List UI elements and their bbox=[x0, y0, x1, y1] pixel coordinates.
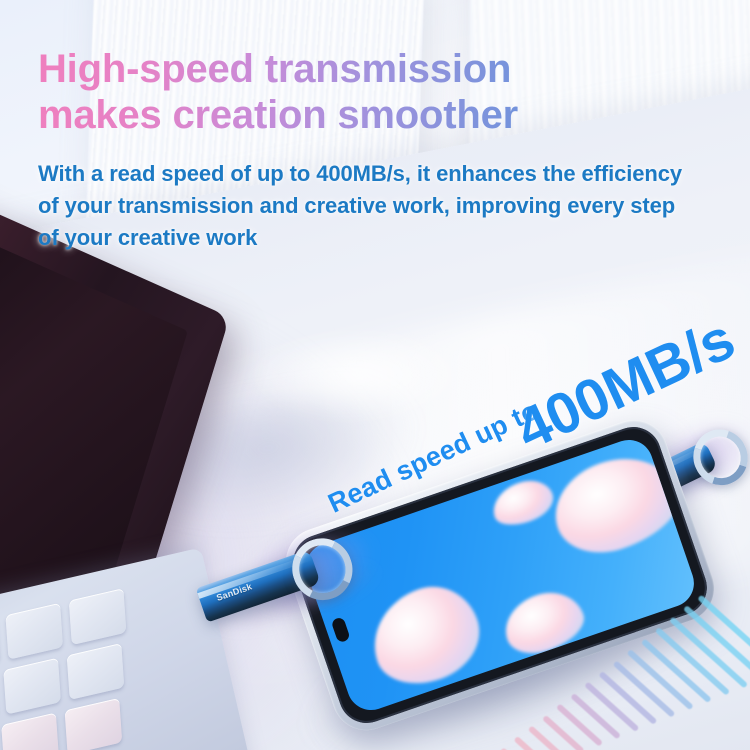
keyboard-key bbox=[67, 643, 125, 700]
headline: High-speed transmission makes creation s… bbox=[38, 46, 678, 138]
subcopy: With a read speed of up to 400MB/s, it e… bbox=[38, 158, 728, 254]
headline-line-1: High-speed transmission bbox=[38, 46, 678, 92]
wallpaper-blob bbox=[542, 442, 690, 566]
product-marketing-image: SanDisk bbox=[0, 0, 750, 750]
keyboard-key bbox=[65, 698, 123, 750]
laptop-edge-glow bbox=[250, 330, 470, 420]
subcopy-line-1: With a read speed of up to 400MB/s, it e… bbox=[38, 158, 728, 190]
chart-bar bbox=[570, 693, 621, 740]
chart-bar bbox=[556, 704, 603, 747]
chart-bar bbox=[584, 682, 639, 732]
laptop bbox=[0, 240, 270, 750]
subcopy-line-2: of your transmission and creative work, … bbox=[38, 190, 728, 222]
wallpaper-blob bbox=[487, 474, 559, 532]
keyboard-key bbox=[3, 658, 61, 715]
subcopy-line-3: of your creative work bbox=[38, 222, 728, 254]
keyboard-key bbox=[1, 712, 59, 750]
headline-line-2: makes creation smoother bbox=[38, 92, 678, 138]
